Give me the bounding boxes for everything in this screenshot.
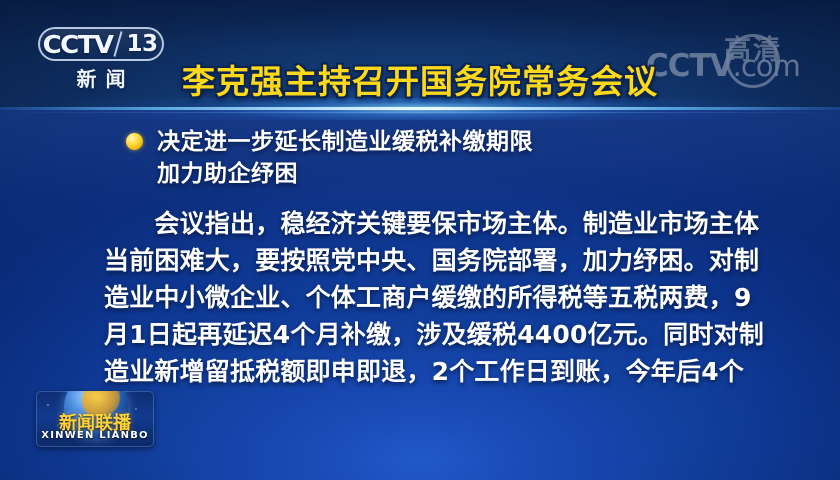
body-line: 造业中小微企业、个体工商户缓缴的所得税等五税两费，9	[104, 279, 760, 316]
body-line: 造业新增留抵税额即申即退，2个工作日到账，今年后4个	[104, 353, 760, 390]
bullet-point-icon	[126, 133, 143, 150]
subtitle-row: 决定进一步延长制造业缓税补缴期限 加力助企纾困	[126, 126, 806, 190]
body-line: 当前困难大，要按照党中央、国务院部署，加力纾困。对制	[104, 242, 760, 279]
body-line: 月1日起再延迟4个月补缴，涉及缓税4400亿元。同时对制	[104, 316, 760, 353]
broadcast-screen: CCTV 13 新闻 高清 CCTV.com 李克强主持召开国务院常务会议 决定…	[0, 0, 840, 480]
page-title: 李克强主持召开国务院常务会议	[0, 55, 840, 103]
cctv-channel-number: 13	[127, 31, 158, 57]
subtitle-line: 加力助企纾困	[157, 158, 533, 190]
cctv-slash-divider-icon	[113, 31, 122, 57]
subtitle-line: 决定进一步延长制造业缓税补缴期限	[157, 126, 533, 158]
subtitle-lines: 决定进一步延长制造业缓税补缴期限 加力助企纾困	[157, 126, 533, 190]
subtitle-block: 决定进一步延长制造业缓税补缴期限 加力助企纾困	[126, 126, 806, 190]
program-bug-name-en: XINWEN LIANBO	[36, 430, 154, 441]
program-bug-xinwen-lianbo: 新闻联播 XINWEN LIANBO	[36, 391, 154, 447]
body-paragraph: 会议指出，稳经济关键要保市场主体。制造业市场主体 当前困难大，要按照党中央、国务…	[104, 205, 760, 390]
body-line: 会议指出，稳经济关键要保市场主体。制造业市场主体	[104, 205, 760, 242]
